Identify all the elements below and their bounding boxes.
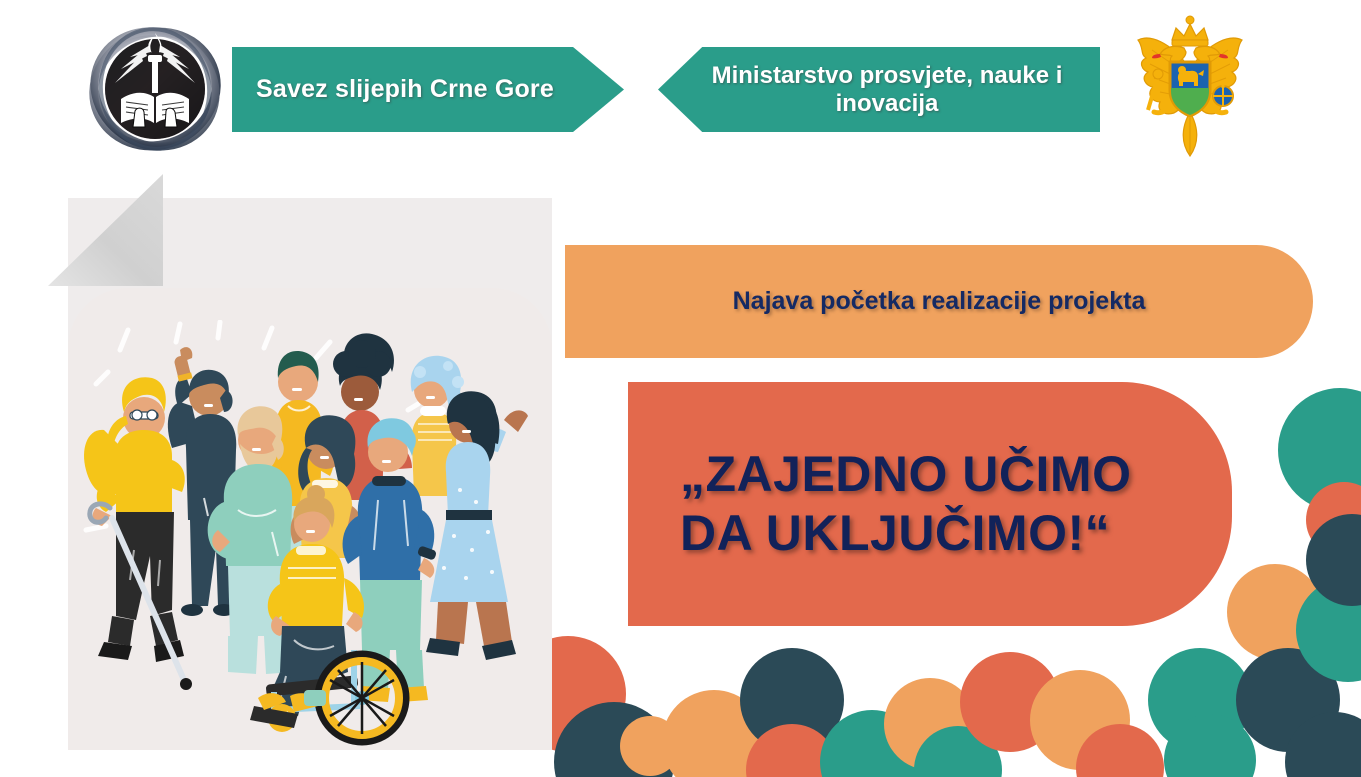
announcement-banner: Najava početka realizacije projekta <box>565 245 1313 358</box>
project-title-panel: „ZAJEDNO UČIMO DA UKLJUČIMO!“ <box>628 382 1232 626</box>
diverse-group-illustration <box>68 320 552 750</box>
banner-ministry-line1: Ministarstvo prosvjete, nauke i <box>712 62 1063 90</box>
decorative-circle <box>740 648 844 752</box>
project-title-line1: „ZAJEDNO UČIMO <box>680 446 1131 502</box>
decorative-circle <box>884 678 976 770</box>
decorative-circle <box>1030 670 1130 770</box>
decorative-circle <box>960 652 1060 752</box>
banner-organization-label: Savez slijepih Crne Gore <box>256 75 554 104</box>
decorative-circle <box>1285 712 1361 777</box>
decorative-circle <box>1306 514 1361 606</box>
banner-organization: Savez slijepih Crne Gore <box>232 47 624 132</box>
announcement-label: Najava početka realizacije projekta <box>733 287 1146 316</box>
decorative-circle <box>1278 388 1361 512</box>
decorative-circle <box>746 724 838 777</box>
decorative-circle <box>554 702 674 777</box>
project-title-line2: DA UKLJUČIMO!“ <box>680 504 1131 563</box>
banner-ministry: Ministarstvo prosvjete, nauke i inovacij… <box>658 47 1100 132</box>
decorative-circle <box>1296 578 1361 682</box>
decorative-circle <box>1164 714 1256 777</box>
decorative-circle <box>1227 564 1323 660</box>
decorative-circle <box>820 710 924 777</box>
decorative-circle <box>1236 648 1340 752</box>
decorative-circle <box>914 726 1002 777</box>
decorative-circle <box>1306 482 1361 558</box>
decorative-circle <box>1148 648 1252 752</box>
banner-ministry-line2: inovacija <box>712 90 1063 118</box>
decorative-circle <box>620 716 680 776</box>
savez-slijepih-crne-gore-logo <box>84 18 226 160</box>
banner-ministry-label: Ministarstvo prosvjete, nauke i inovacij… <box>712 62 1063 118</box>
decorative-circle <box>1076 724 1164 777</box>
folded-corner <box>48 174 163 286</box>
decorative-circle <box>662 690 766 777</box>
montenegro-coat-of-arms-icon <box>1124 14 1256 166</box>
project-title: „ZAJEDNO UČIMO DA UKLJUČIMO!“ <box>628 445 1131 563</box>
presentation-slide: Savez slijepih Crne Gore Ministarstvo pr… <box>0 0 1361 777</box>
